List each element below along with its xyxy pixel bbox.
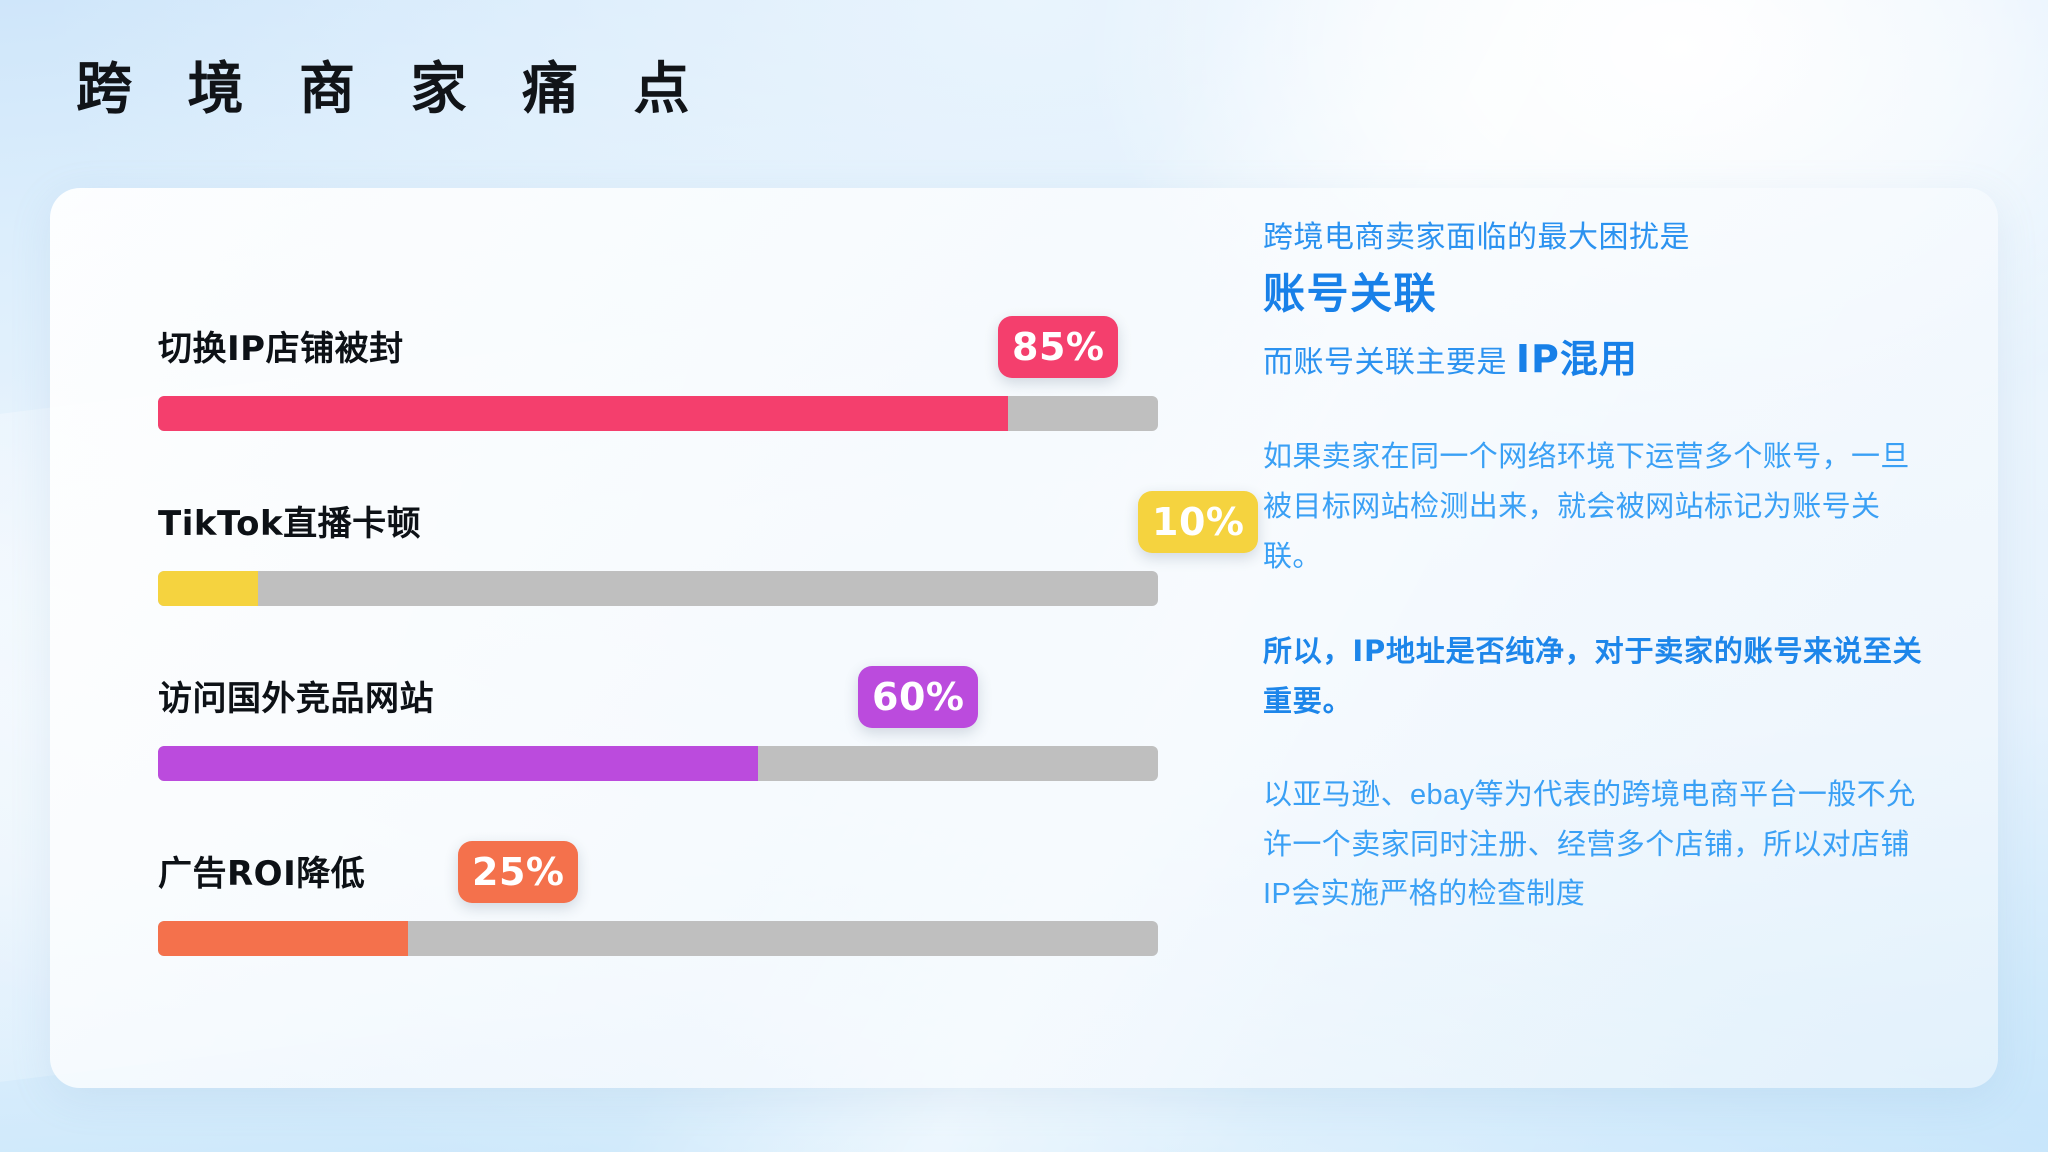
bar-row: TikTok直播卡顿10% xyxy=(158,475,1158,650)
mix-line: 而账号关联主要是 IP混用 xyxy=(1263,332,1928,387)
lead-text: 跨境电商卖家面临的最大困扰是 xyxy=(1263,216,1928,260)
bar-row: 广告ROI降低25% xyxy=(158,825,1158,1000)
bar-track xyxy=(158,571,1158,606)
headline-text: 账号关联 xyxy=(1263,266,1928,323)
bar-value-badge: 85% xyxy=(998,316,1118,378)
content-card: 切换IP店铺被封85%TikTok直播卡顿10%访问国外竞品网站60%广告ROI… xyxy=(50,188,1998,1088)
bar-header: 切换IP店铺被封85% xyxy=(158,300,1158,376)
bar-track xyxy=(158,746,1158,781)
bar-fill xyxy=(158,746,758,781)
bar-chart: 切换IP店铺被封85%TikTok直播卡顿10%访问国外竞品网站60%广告ROI… xyxy=(158,300,1158,1000)
mix-prefix-text: 而账号关联主要是 xyxy=(1263,346,1516,379)
bar-row: 访问国外竞品网站60% xyxy=(158,650,1158,825)
bar-value-badge: 60% xyxy=(858,666,978,728)
bar-header: 广告ROI降低25% xyxy=(158,825,1158,901)
bar-fill xyxy=(158,396,1008,431)
bar-label: TikTok直播卡顿 xyxy=(158,496,421,545)
bar-track xyxy=(158,396,1158,431)
bar-fill xyxy=(158,571,258,606)
bar-label: 切换IP店铺被封 xyxy=(158,321,404,370)
paragraph-2: 所以，IP地址是否纯净，对于卖家的账号来说至关重要。 xyxy=(1263,627,1928,727)
bar-header: TikTok直播卡顿10% xyxy=(158,475,1158,551)
bar-track xyxy=(158,921,1158,956)
bar-label: 广告ROI降低 xyxy=(158,846,365,895)
page-title: 跨 境 商 家 痛 点 xyxy=(76,62,707,118)
bar-label: 访问国外竞品网站 xyxy=(158,671,434,720)
paragraph-1: 如果卖家在同一个网络环境下运营多个账号，一旦被目标网站检测出来，就会被网站标记为… xyxy=(1263,433,1928,583)
bar-fill xyxy=(158,921,408,956)
bar-header: 访问国外竞品网站60% xyxy=(158,650,1158,726)
paragraph-3: 以亚马逊、ebay等为代表的跨境电商平台一般不允许一个卖家同时注册、经营多个店铺… xyxy=(1263,771,1928,921)
bar-row: 切换IP店铺被封85% xyxy=(158,300,1158,475)
text-panel: 跨境电商卖家面临的最大困扰是 账号关联 而账号关联主要是 IP混用 如果卖家在同… xyxy=(1203,188,1998,1088)
bar-value-badge: 25% xyxy=(458,841,578,903)
mix-emphasis-text: IP混用 xyxy=(1516,337,1638,381)
chart-panel: 切换IP店铺被封85%TikTok直播卡顿10%访问国外竞品网站60%广告ROI… xyxy=(50,188,1203,1088)
